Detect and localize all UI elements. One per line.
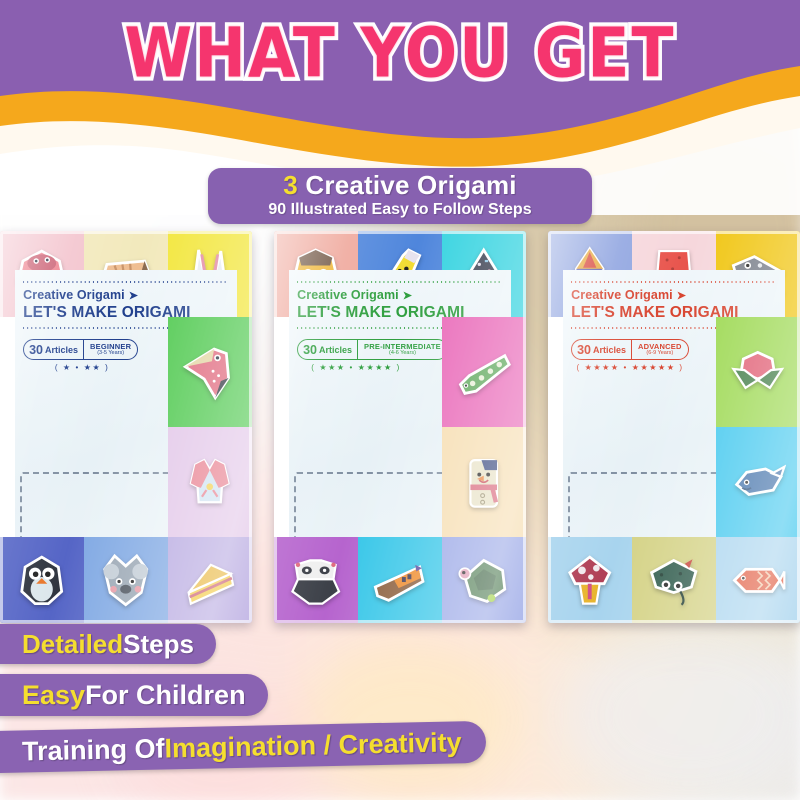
decorative-dotline-top bbox=[571, 279, 777, 284]
ship-icon bbox=[372, 552, 427, 609]
promo-image: WHAT YOU GET 3 Creative Origami 90 Illus… bbox=[0, 0, 800, 800]
decorative-dotline-top bbox=[297, 279, 503, 284]
articles-level-pill: 30 Articles ADVANCED (6-9 Years) bbox=[571, 339, 688, 360]
difficulty-stars: ( ★ • ★★ ) bbox=[23, 363, 141, 372]
articles-count: 30 bbox=[303, 343, 317, 357]
dolphin-icon bbox=[730, 446, 785, 519]
articles-word: Articles bbox=[593, 345, 626, 355]
subtitle-subline: 90 Illustrated Easy to Follow Steps bbox=[268, 200, 531, 219]
panda-icon bbox=[288, 552, 343, 609]
frog-icon bbox=[646, 552, 701, 609]
subtitle-headline-text: Creative Origami bbox=[305, 170, 516, 200]
feature-highlight: Easy bbox=[22, 680, 85, 711]
difficulty-stars: ( ★★★ • ★★★★ ) bbox=[297, 363, 415, 372]
pack-brand: Creative Origami ➤ bbox=[297, 288, 503, 302]
feature-pill-easy-for-children: Easy For Children bbox=[0, 674, 268, 716]
pack-tile-grid: Creative Origami ➤ LET'S MAKE ORIGAMI 30… bbox=[274, 231, 526, 623]
level-name: ADVANCED bbox=[638, 343, 682, 351]
articles-word: Articles bbox=[45, 345, 78, 355]
origami-pack[interactable]: Creative Origami ➤ LET'S MAKE ORIGAMI 30… bbox=[0, 231, 252, 623]
feature-highlight: Detailed bbox=[22, 629, 123, 660]
level-name: PRE-INTERMEDIATE bbox=[364, 343, 441, 351]
page-title-text: WHAT YOU GET bbox=[124, 13, 675, 93]
penguin-icon bbox=[14, 552, 69, 609]
tile-7 bbox=[716, 537, 800, 623]
bird-icon: ➤ bbox=[129, 289, 138, 302]
tile-7 bbox=[168, 537, 252, 623]
tile-6 bbox=[632, 537, 716, 623]
tile-7 bbox=[442, 537, 526, 623]
level-age: (4-6 Years) bbox=[389, 351, 416, 357]
woodpecker-icon bbox=[182, 336, 237, 409]
feature-plain: Steps bbox=[123, 629, 194, 660]
product-packs: Creative Origami ➤ LET'S MAKE ORIGAMI 30… bbox=[0, 231, 800, 623]
pack-brand-text: Creative Origami bbox=[571, 288, 673, 302]
lotus-icon bbox=[730, 336, 785, 409]
level-name: BEGINNER bbox=[90, 343, 131, 351]
feature-highlight: Imagination / Creativity bbox=[164, 727, 462, 764]
feature-list: Detailed Steps Easy For Children Trainin… bbox=[0, 618, 800, 778]
tile-3 bbox=[442, 317, 526, 427]
feature-pill-training-imagination: Training Of Imagination / Creativity bbox=[0, 721, 486, 773]
fish-icon bbox=[730, 552, 785, 609]
tile-3 bbox=[168, 317, 252, 427]
bird-icon: ➤ bbox=[677, 289, 686, 302]
koala-icon bbox=[98, 552, 153, 609]
tile-6 bbox=[84, 537, 168, 623]
tile-6 bbox=[358, 537, 442, 623]
subtitle-headline: 3 Creative Origami bbox=[283, 172, 516, 198]
feature-pill-detailed-steps: Detailed Steps bbox=[0, 624, 216, 664]
pack-label: Creative Origami ➤ LET'S MAKE ORIGAMI 30… bbox=[0, 317, 168, 537]
articles-level-pill: 30 Articles BEGINNER (3-5 Years) bbox=[23, 339, 138, 360]
pack-brand-text: Creative Origami bbox=[23, 288, 125, 302]
kimono-icon bbox=[182, 446, 237, 519]
tile-3 bbox=[716, 317, 800, 427]
tile-5 bbox=[274, 537, 358, 623]
level-age: (3-5 Years) bbox=[97, 351, 124, 357]
pack-tile-grid: Creative Origami ➤ LET'S MAKE ORIGAMI 30… bbox=[0, 231, 252, 623]
tile-4 bbox=[716, 427, 800, 537]
articles-count-group: 30 Articles bbox=[298, 340, 357, 359]
bird-icon: ➤ bbox=[403, 289, 412, 302]
articles-count-group: 30 Articles bbox=[572, 340, 631, 359]
articles-count: 30 bbox=[577, 343, 591, 357]
difficulty-stars: ( ★★★★ • ★★★★★ ) bbox=[571, 363, 689, 372]
articles-level-pill: 30 Articles PRE-INTERMEDIATE (4-6 Years) bbox=[297, 339, 448, 360]
snowman-icon bbox=[456, 446, 511, 519]
level-group: PRE-INTERMEDIATE (4-6 Years) bbox=[357, 340, 447, 359]
tile-4 bbox=[168, 427, 252, 537]
pack-label: Creative Origami ➤ LET'S MAKE ORIGAMI 30… bbox=[274, 317, 442, 537]
subtitle-count: 3 bbox=[283, 170, 298, 200]
subtitle-banner: 3 Creative Origami 90 Illustrated Easy t… bbox=[208, 168, 592, 224]
pack-label: Creative Origami ➤ LET'S MAKE ORIGAMI 30… bbox=[548, 317, 716, 537]
pack-tile-grid: Creative Origami ➤ LET'S MAKE ORIGAMI 30… bbox=[548, 231, 800, 623]
decorative-dotline-top bbox=[23, 279, 229, 284]
level-group: BEGINNER (3-5 Years) bbox=[83, 340, 137, 359]
feature-plain-prefix: Training Of bbox=[22, 733, 165, 767]
articles-count: 30 bbox=[29, 343, 43, 357]
tile-5 bbox=[548, 537, 632, 623]
level-age: (6-9 Years) bbox=[646, 351, 673, 357]
turtle-icon bbox=[456, 552, 511, 609]
level-group: ADVANCED (6-9 Years) bbox=[631, 340, 688, 359]
tile-5 bbox=[0, 537, 84, 623]
caterpillar-icon bbox=[456, 336, 511, 409]
origami-pack[interactable]: Creative Origami ➤ LET'S MAKE ORIGAMI 30… bbox=[274, 231, 526, 623]
mushroom-icon bbox=[562, 552, 617, 609]
articles-count-group: 30 Articles bbox=[24, 340, 83, 359]
tile-4 bbox=[442, 427, 526, 537]
pack-brand: Creative Origami ➤ bbox=[571, 288, 777, 302]
origami-pack[interactable]: Creative Origami ➤ LET'S MAKE ORIGAMI 30… bbox=[548, 231, 800, 623]
page-title: WHAT YOU GET bbox=[0, 14, 800, 92]
feature-plain: For Children bbox=[85, 680, 246, 711]
articles-word: Articles bbox=[319, 345, 352, 355]
cake-slice-icon bbox=[182, 552, 237, 609]
pack-brand: Creative Origami ➤ bbox=[23, 288, 229, 302]
pack-brand-text: Creative Origami bbox=[297, 288, 399, 302]
